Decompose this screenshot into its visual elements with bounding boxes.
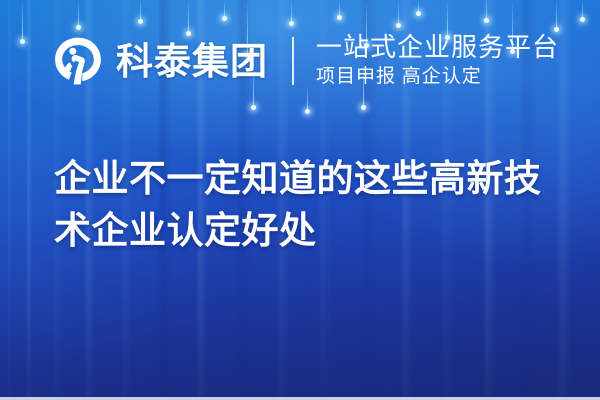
light-streak-icon bbox=[188, 0, 189, 34]
light-streak-icon bbox=[78, 0, 79, 28]
light-streak-icon bbox=[486, 0, 487, 21]
light-streak-icon bbox=[398, 0, 399, 26]
tagline-main: 一站式企业服务平台 bbox=[316, 33, 559, 62]
light-streak-icon bbox=[418, 0, 419, 14]
brand-header: 科泰集团 一站式企业服务平台 项目申报 高企认定 bbox=[52, 30, 559, 92]
brand-name: 科泰集团 bbox=[116, 43, 268, 80]
light-streak-icon bbox=[291, 0, 292, 24]
light-streak-icon bbox=[140, 0, 141, 22]
tagline-sub: 项目申报 高企认定 bbox=[316, 65, 559, 90]
tagline-block: 一站式企业服务平台 项目申报 高企认定 bbox=[316, 33, 559, 90]
page-title: 企业不一定知道的这些高新技术企业认定好处 bbox=[54, 153, 554, 257]
light-streak-icon bbox=[556, 0, 557, 30]
light-streak-icon bbox=[582, 0, 583, 20]
light-streak-icon bbox=[339, 0, 340, 18]
ketai-circular-emblem-icon bbox=[52, 35, 104, 87]
promo-banner: 科泰集团 一站式企业服务平台 项目申报 高企认定 企业不一定知道的这些高新技术企… bbox=[0, 0, 600, 400]
light-streak-icon bbox=[22, 0, 23, 42]
light-streak-icon bbox=[224, 0, 225, 19]
header-divider bbox=[292, 37, 294, 85]
